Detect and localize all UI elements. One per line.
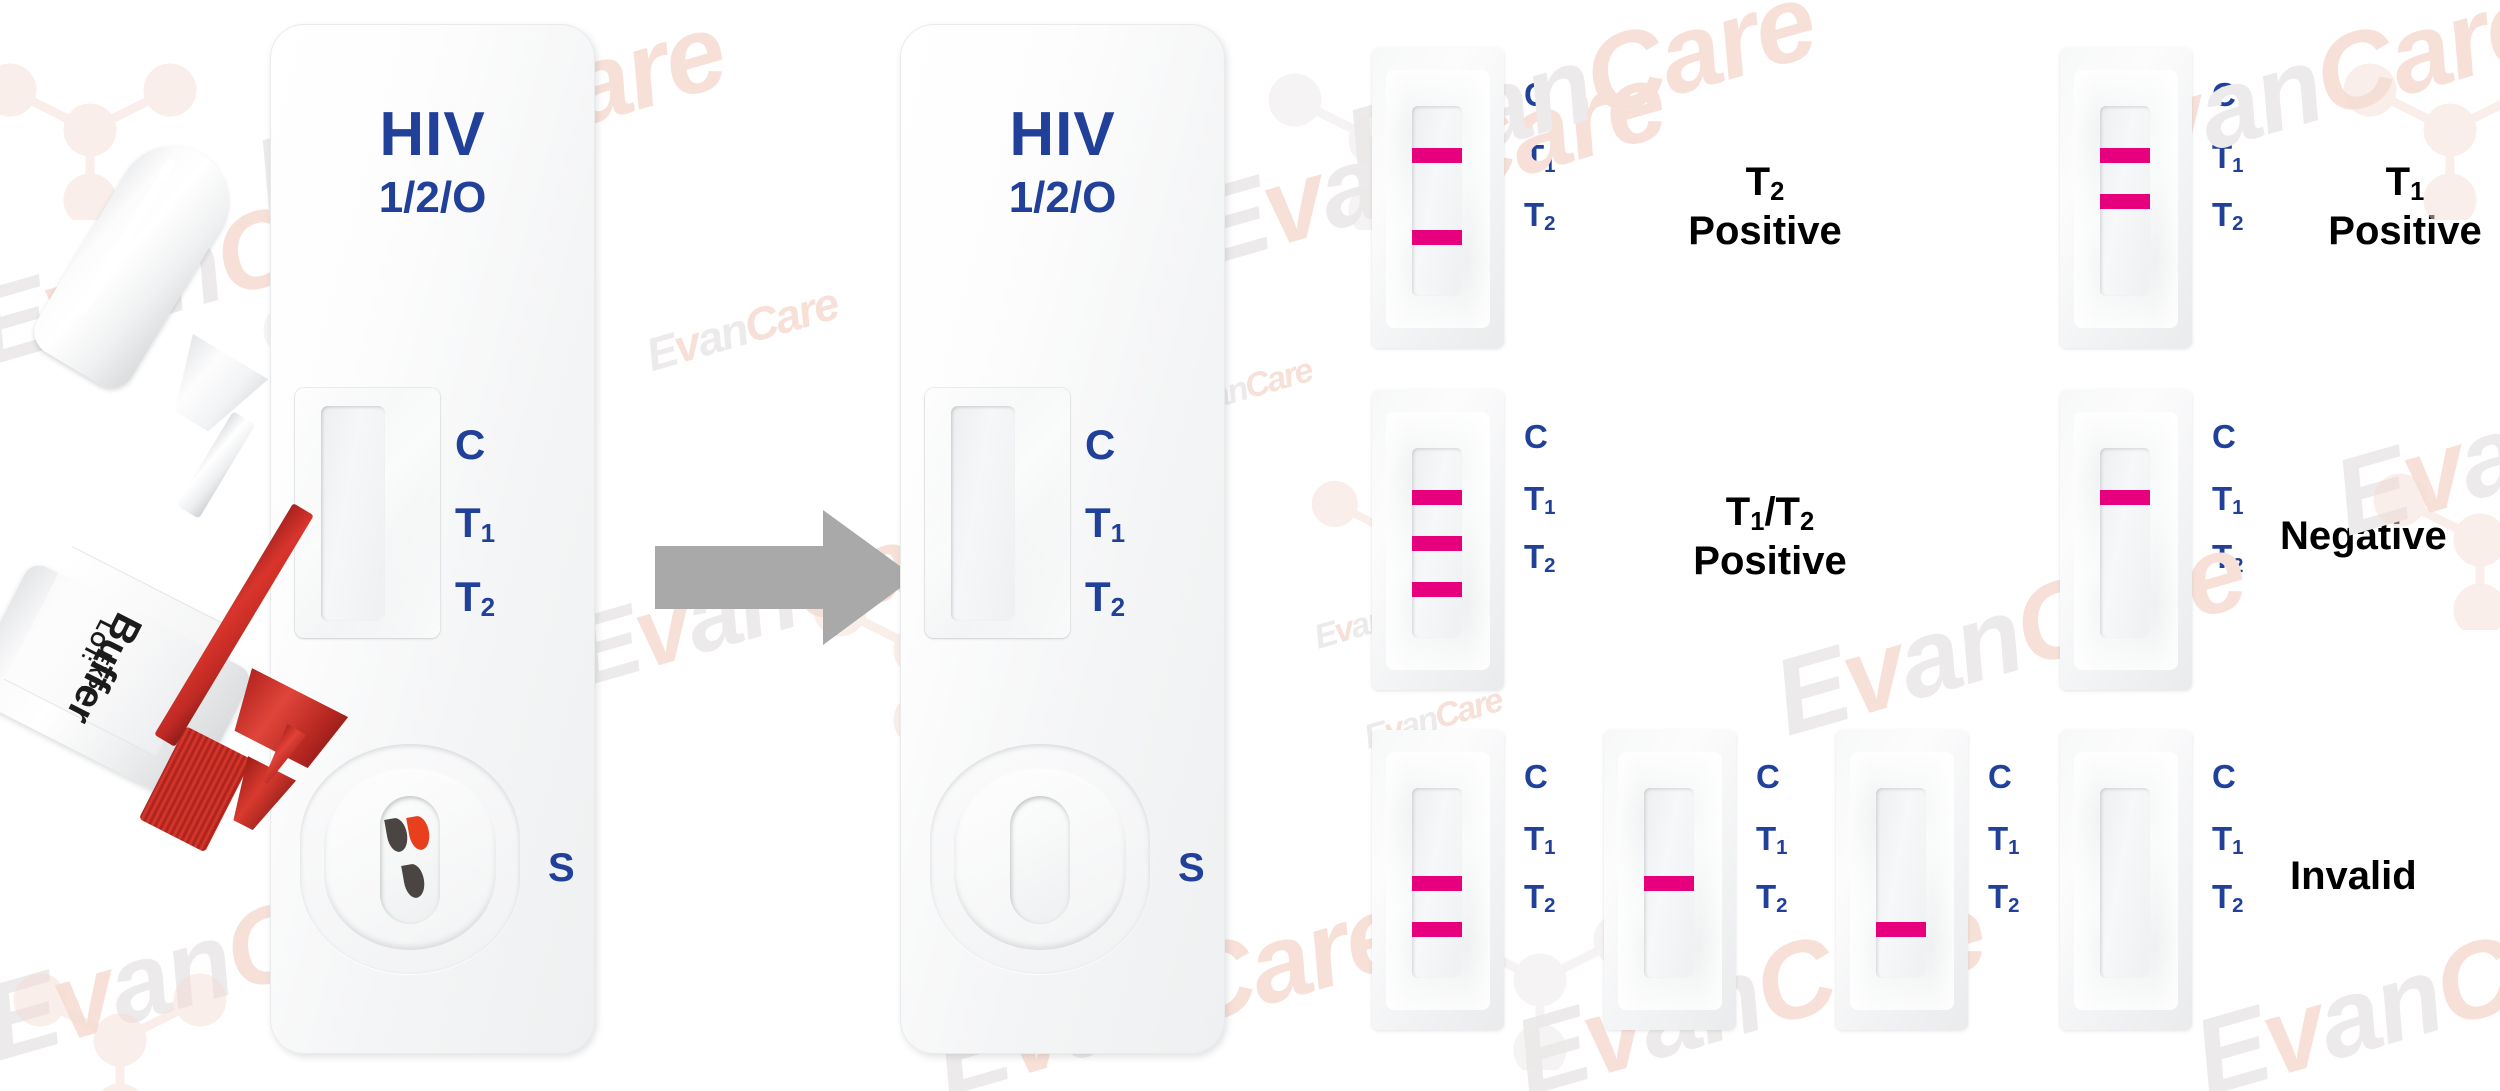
- label-t1: T1: [1524, 140, 1556, 173]
- result-cassette-invalid-c: [1836, 730, 1968, 1030]
- result-labels-t1-positive: C T1 T2: [2212, 78, 2244, 231]
- result-text-line1: T1: [2290, 158, 2500, 207]
- result-strip: [2100, 106, 2150, 296]
- label-c: C: [1524, 78, 1556, 111]
- result-labels-invalid-b: C T1 T2: [1756, 760, 1788, 913]
- result-strip: [2100, 788, 2150, 978]
- label-t2: T2: [1524, 198, 1556, 231]
- process-arrow: [655, 510, 915, 645]
- result-cassette-negative: [2060, 390, 2192, 690]
- label-c: C: [1085, 424, 1125, 466]
- result-strip: [1412, 106, 1462, 296]
- band-t2: [1412, 230, 1462, 245]
- label-c: C: [1524, 760, 1556, 793]
- band-c: [1412, 490, 1462, 505]
- label-t1: T1: [2212, 822, 2244, 855]
- label-t1: T1: [1756, 822, 1788, 855]
- band-c: [2100, 490, 2150, 505]
- result-strip: [1644, 788, 1694, 978]
- label-t2: T2: [2212, 540, 2244, 573]
- label-c: C: [1756, 760, 1788, 793]
- test-cassette-step2: HIV 1/2/O C T1 T2 S: [900, 24, 1225, 1054]
- cassette-title-line2: 1/2/O: [900, 176, 1225, 220]
- result-labels-invalid-a: C T1 T2: [1524, 760, 1556, 913]
- label-c: C: [455, 424, 495, 466]
- dropper-stem: [177, 411, 256, 519]
- label-c: C: [1988, 760, 2020, 793]
- result-strip: [2100, 448, 2150, 638]
- label-t1: T1: [2212, 140, 2244, 173]
- band-t1: [1412, 876, 1462, 891]
- result-text-t2-positive: T2 Positive: [1620, 158, 1910, 256]
- watermark-evancare: EvanCare: [640, 276, 844, 382]
- label-t1: T1: [1988, 822, 2020, 855]
- label-t1: T1: [1524, 482, 1556, 515]
- result-cassette-t1-t2-positive: [1372, 390, 1504, 690]
- label-t2: T2: [2212, 880, 2244, 913]
- result-labels-negative: C T1 T2: [2212, 420, 2244, 573]
- result-text-line2: Positive: [1620, 207, 1910, 256]
- result-text-line1: T2: [1620, 158, 1910, 207]
- sample-drop: [401, 863, 427, 900]
- sample-well: [930, 744, 1150, 974]
- sample-dropper: [70, 110, 430, 830]
- label-t1: T1: [1524, 822, 1556, 855]
- band-t2: [1412, 582, 1462, 597]
- dropper-tip: [256, 724, 307, 788]
- label-c: C: [1524, 420, 1556, 453]
- band-t1: [1644, 876, 1694, 891]
- result-text-line2: Positive: [1610, 537, 1930, 586]
- illustration-canvas: EvanCare EvanCare EvanCare EvanCare Evan…: [0, 0, 2500, 1091]
- result-text-negative: Negative: [2280, 512, 2500, 561]
- band-c: [1412, 148, 1462, 163]
- result-strip: [951, 406, 1015, 621]
- band-c: [2100, 148, 2150, 163]
- label-t2: T2: [1524, 540, 1556, 573]
- label-t2: T2: [2212, 198, 2244, 231]
- cassette-title-line1: HIV: [900, 104, 1225, 166]
- result-labels-t2-positive: C T1 T2: [1524, 78, 1556, 231]
- label-t1: T1: [2212, 482, 2244, 515]
- sample-well-hole: [1010, 796, 1070, 924]
- band-t2: [1412, 922, 1462, 937]
- window-labels: C T1 T2: [1085, 424, 1125, 618]
- band-t1: [2100, 194, 2150, 209]
- label-t2: T2: [1085, 576, 1125, 618]
- label-t2: T2: [1988, 880, 2020, 913]
- cassette-title: HIV 1/2/O: [900, 104, 1225, 220]
- label-c: C: [2212, 420, 2244, 453]
- dropper-sample-fill: [154, 503, 314, 747]
- result-labels-invalid-c: C T1 T2: [1988, 760, 2020, 913]
- label-t1: T1: [455, 502, 495, 544]
- sample-label: S: [548, 846, 575, 891]
- sample-label: S: [1178, 846, 1205, 891]
- result-text-invalid: Invalid: [2290, 852, 2500, 901]
- label-t2: T2: [1524, 880, 1556, 913]
- result-cassette-t1-positive: [2060, 48, 2192, 348]
- result-cassette-invalid-d: [2060, 730, 2192, 1030]
- sample-well-inner: [954, 768, 1126, 950]
- label-c: C: [2212, 760, 2244, 793]
- result-text-line2: Positive: [2290, 207, 2500, 256]
- result-text-line1: T1/T2: [1610, 488, 1930, 537]
- result-text-t1-t2-positive: T1/T2 Positive: [1610, 488, 1930, 586]
- band-t2: [1876, 922, 1926, 937]
- result-text-t1-positive: T1 Positive: [2290, 158, 2500, 256]
- result-cassette-invalid-a: [1372, 730, 1504, 1030]
- result-labels-t1-t2-positive: C T1 T2: [1524, 420, 1556, 573]
- result-labels-invalid-d: C T1 T2: [2212, 760, 2244, 913]
- label-c: C: [2212, 78, 2244, 111]
- result-cassette-invalid-b: [1604, 730, 1736, 1030]
- label-t2: T2: [1756, 880, 1788, 913]
- result-strip: [1876, 788, 1926, 978]
- band-t1: [1412, 536, 1462, 551]
- result-strip: [1412, 448, 1462, 638]
- label-t1: T1: [1085, 502, 1125, 544]
- result-window: [925, 388, 1070, 638]
- result-cassette-t2-positive: [1372, 48, 1504, 348]
- molecule-icon: [0, 930, 230, 1091]
- result-strip: [1412, 788, 1462, 978]
